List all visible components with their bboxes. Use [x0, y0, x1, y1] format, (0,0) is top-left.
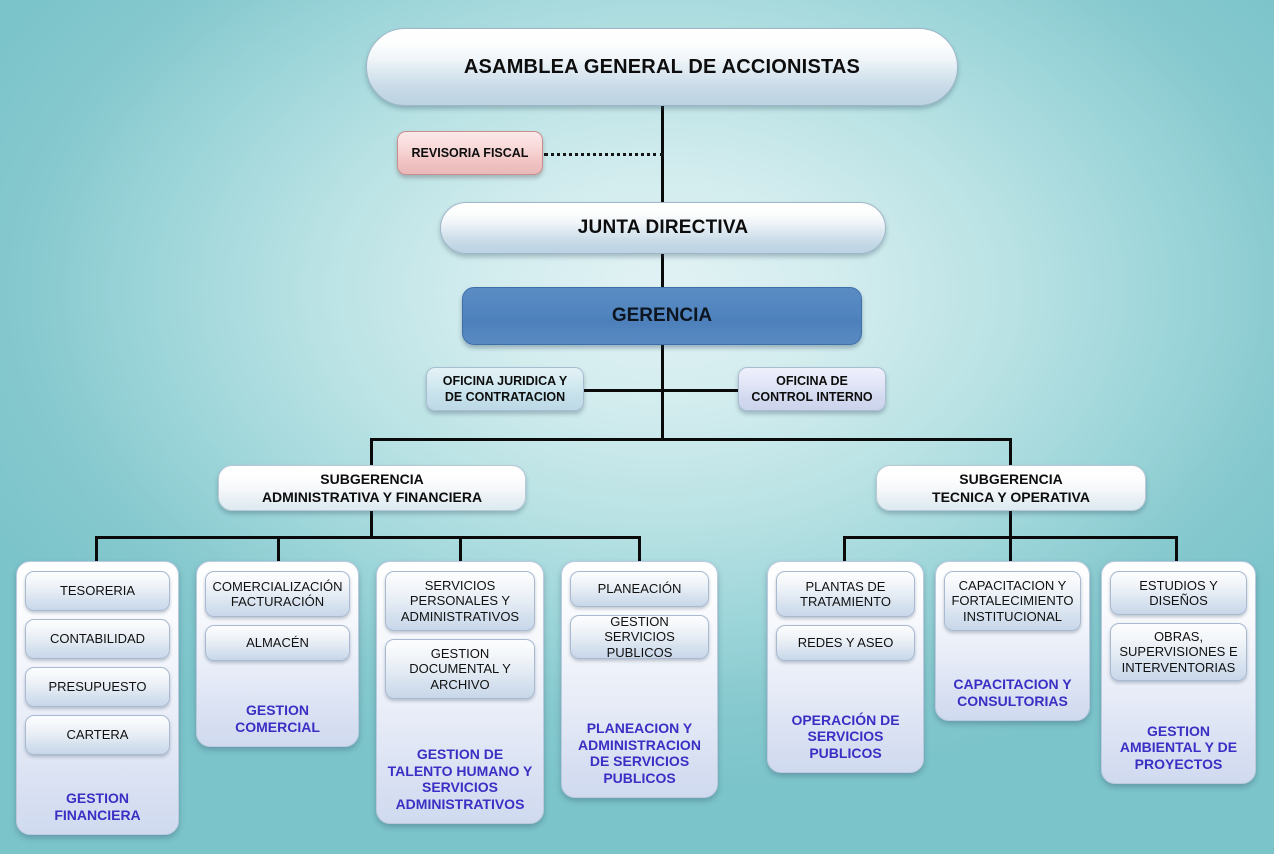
- connector-subg-admin-down: [370, 510, 373, 536]
- node-junta-label: JUNTA DIRECTIVA: [578, 217, 748, 239]
- caption-gestion-comercial: GESTION COMERCIAL: [205, 698, 350, 736]
- leaf-label: SERVICIOS PERSONALES Y ADMINISTRATIVOS: [390, 578, 530, 624]
- caption-operacion-servicios-publicos: OPERACIÓN DE SERVICIOS PUBLICOS: [776, 708, 915, 762]
- org-chart-canvas: ASAMBLEA GENERAL DE ACCIONISTAS REVISORI…: [0, 0, 1274, 854]
- node-junta-directiva[interactable]: JUNTA DIRECTIVA: [440, 202, 886, 254]
- leaf-label: PLANTAS DE TRATAMIENTO: [781, 579, 910, 610]
- leaf-capacitacion-fortalecimiento[interactable]: CAPACITACION Y FORTALECIMIENTO INSTITUCI…: [944, 571, 1081, 631]
- leaf-gestion-documental[interactable]: GESTION DOCUMENTAL Y ARCHIVO: [385, 639, 535, 699]
- caption-capacitacion-consultorias: CAPACITACION Y CONSULTORIAS: [944, 672, 1081, 710]
- caption-gestion-ambiental-proyectos: GESTION AMBIENTAL Y DE PROYECTOS: [1110, 719, 1247, 773]
- oficina-control-line1: OFICINA DE: [776, 373, 848, 389]
- leaf-plantas-tratamiento[interactable]: PLANTAS DE TRATAMIENTO: [776, 571, 915, 617]
- group-gestion-comercial[interactable]: COMERCIALIZACIÓN FACTURACIÓN ALMACÉN GES…: [196, 561, 359, 747]
- connector-drop-col1: [95, 536, 98, 562]
- connector-drop-col5: [843, 536, 846, 562]
- node-gerencia[interactable]: GERENCIA: [462, 287, 862, 345]
- node-subgerencia-tecnica[interactable]: SUBGERENCIA TECNICA Y OPERATIVA: [876, 465, 1146, 511]
- group-planeacion-administracion[interactable]: PLANEACIÓN GESTION SERVICIOS PUBLICOS PL…: [561, 561, 718, 798]
- node-oficina-control-interno[interactable]: OFICINA DE CONTROL INTERNO: [738, 367, 886, 411]
- leaf-label: CAPACITACION Y FORTALECIMIENTO INSTITUCI…: [949, 578, 1076, 624]
- connector-gerencia-trunk: [661, 344, 664, 440]
- leaf-label: ALMACÉN: [246, 635, 309, 650]
- connector-junta-gerencia: [661, 252, 664, 287]
- connector-drop-col6: [1009, 536, 1012, 562]
- group-capacitacion-consultorias[interactable]: CAPACITACION Y FORTALECIMIENTO INSTITUCI…: [935, 561, 1090, 721]
- leaf-label: PRESUPUESTO: [48, 679, 146, 694]
- leaf-label: COMERCIALIZACIÓN FACTURACIÓN: [210, 579, 345, 610]
- connector-left-children-bar: [95, 536, 641, 539]
- node-asamblea-label: ASAMBLEA GENERAL DE ACCIONISTAS: [464, 56, 860, 79]
- caption-gestion-talento-humano: GESTION DE TALENTO HUMANO Y SERVICIOS AD…: [385, 742, 535, 813]
- leaf-servicios-personales[interactable]: SERVICIOS PERSONALES Y ADMINISTRATIVOS: [385, 571, 535, 631]
- oficina-control-line2: CONTROL INTERNO: [751, 389, 872, 405]
- leaf-gestion-servicios-publicos[interactable]: GESTION SERVICIOS PUBLICOS: [570, 615, 709, 659]
- oficina-juridica-line2: DE CONTRATACION: [445, 389, 565, 405]
- leaf-label: REDES Y ASEO: [798, 635, 894, 650]
- leaf-label: CONTABILIDAD: [50, 631, 145, 646]
- leaf-label: OBRAS, SUPERVISIONES E INTERVENTORIAS: [1115, 629, 1242, 675]
- connector-drop-col7: [1175, 536, 1178, 562]
- subg-tecnica-line2: TECNICA Y OPERATIVA: [932, 488, 1090, 506]
- leaf-label: GESTION DOCUMENTAL Y ARCHIVO: [390, 646, 530, 692]
- oficina-juridica-line1: OFICINA JURIDICA Y: [443, 373, 568, 389]
- node-gerencia-label: GERENCIA: [612, 305, 712, 327]
- leaf-presupuesto[interactable]: PRESUPUESTO: [25, 667, 170, 707]
- connector-subg-tecnica-down: [1009, 510, 1012, 536]
- connector-drop-col2: [277, 536, 280, 562]
- leaf-contabilidad[interactable]: CONTABILIDAD: [25, 619, 170, 659]
- group-gestion-ambiental-proyectos[interactable]: ESTUDIOS Y DISEÑOS OBRAS, SUPERVISIONES …: [1101, 561, 1256, 784]
- subg-tecnica-line1: SUBGERENCIA: [959, 470, 1062, 488]
- connector-revisoria-dotted: [544, 153, 664, 156]
- node-revisoria-label: REVISORIA FISCAL: [412, 146, 529, 160]
- leaf-redes-aseo[interactable]: REDES Y ASEO: [776, 625, 915, 661]
- group-operacion-servicios-publicos[interactable]: PLANTAS DE TRATAMIENTO REDES Y ASEO OPER…: [767, 561, 924, 773]
- leaf-obras-supervisiones[interactable]: OBRAS, SUPERVISIONES E INTERVENTORIAS: [1110, 623, 1247, 681]
- leaf-label: ESTUDIOS Y DISEÑOS: [1115, 578, 1242, 609]
- caption-gestion-financiera: GESTION FINANCIERA: [25, 786, 170, 824]
- leaf-planeacion[interactable]: PLANEACIÓN: [570, 571, 709, 607]
- connector-drop-col4: [638, 536, 641, 562]
- leaf-tesoreria[interactable]: TESORERIA: [25, 571, 170, 611]
- connector-subgerencias-bar: [370, 438, 1012, 441]
- group-gestion-financiera[interactable]: TESORERIA CONTABILIDAD PRESUPUESTO CARTE…: [16, 561, 179, 835]
- leaf-label: CARTERA: [67, 727, 129, 742]
- connector-oficina-juridica: [584, 389, 664, 392]
- leaf-comercializacion-facturacion[interactable]: COMERCIALIZACIÓN FACTURACIÓN: [205, 571, 350, 617]
- connector-oficina-control: [661, 389, 739, 392]
- connector-drop-col3: [459, 536, 462, 562]
- connector-drop-subg-admin: [370, 438, 373, 466]
- leaf-almacen[interactable]: ALMACÉN: [205, 625, 350, 661]
- leaf-estudios-disenos[interactable]: ESTUDIOS Y DISEÑOS: [1110, 571, 1247, 615]
- node-subgerencia-administrativa[interactable]: SUBGERENCIA ADMINISTRATIVA Y FINANCIERA: [218, 465, 526, 511]
- leaf-cartera[interactable]: CARTERA: [25, 715, 170, 755]
- subg-admin-line1: SUBGERENCIA: [320, 470, 423, 488]
- subg-admin-line2: ADMINISTRATIVA Y FINANCIERA: [262, 488, 482, 506]
- group-gestion-talento-humano[interactable]: SERVICIOS PERSONALES Y ADMINISTRATIVOS G…: [376, 561, 544, 824]
- leaf-label: GESTION SERVICIOS PUBLICOS: [575, 614, 704, 660]
- leaf-label: TESORERIA: [60, 583, 135, 598]
- connector-drop-subg-tecnica: [1009, 438, 1012, 466]
- node-oficina-juridica[interactable]: OFICINA JURIDICA Y DE CONTRATACION: [426, 367, 584, 411]
- caption-planeacion-administracion: PLANEACION Y ADMINISTRACION DE SERVICIOS…: [570, 716, 709, 787]
- node-revisoria-fiscal[interactable]: REVISORIA FISCAL: [397, 131, 543, 175]
- leaf-label: PLANEACIÓN: [598, 581, 682, 596]
- node-asamblea-general[interactable]: ASAMBLEA GENERAL DE ACCIONISTAS: [366, 28, 958, 106]
